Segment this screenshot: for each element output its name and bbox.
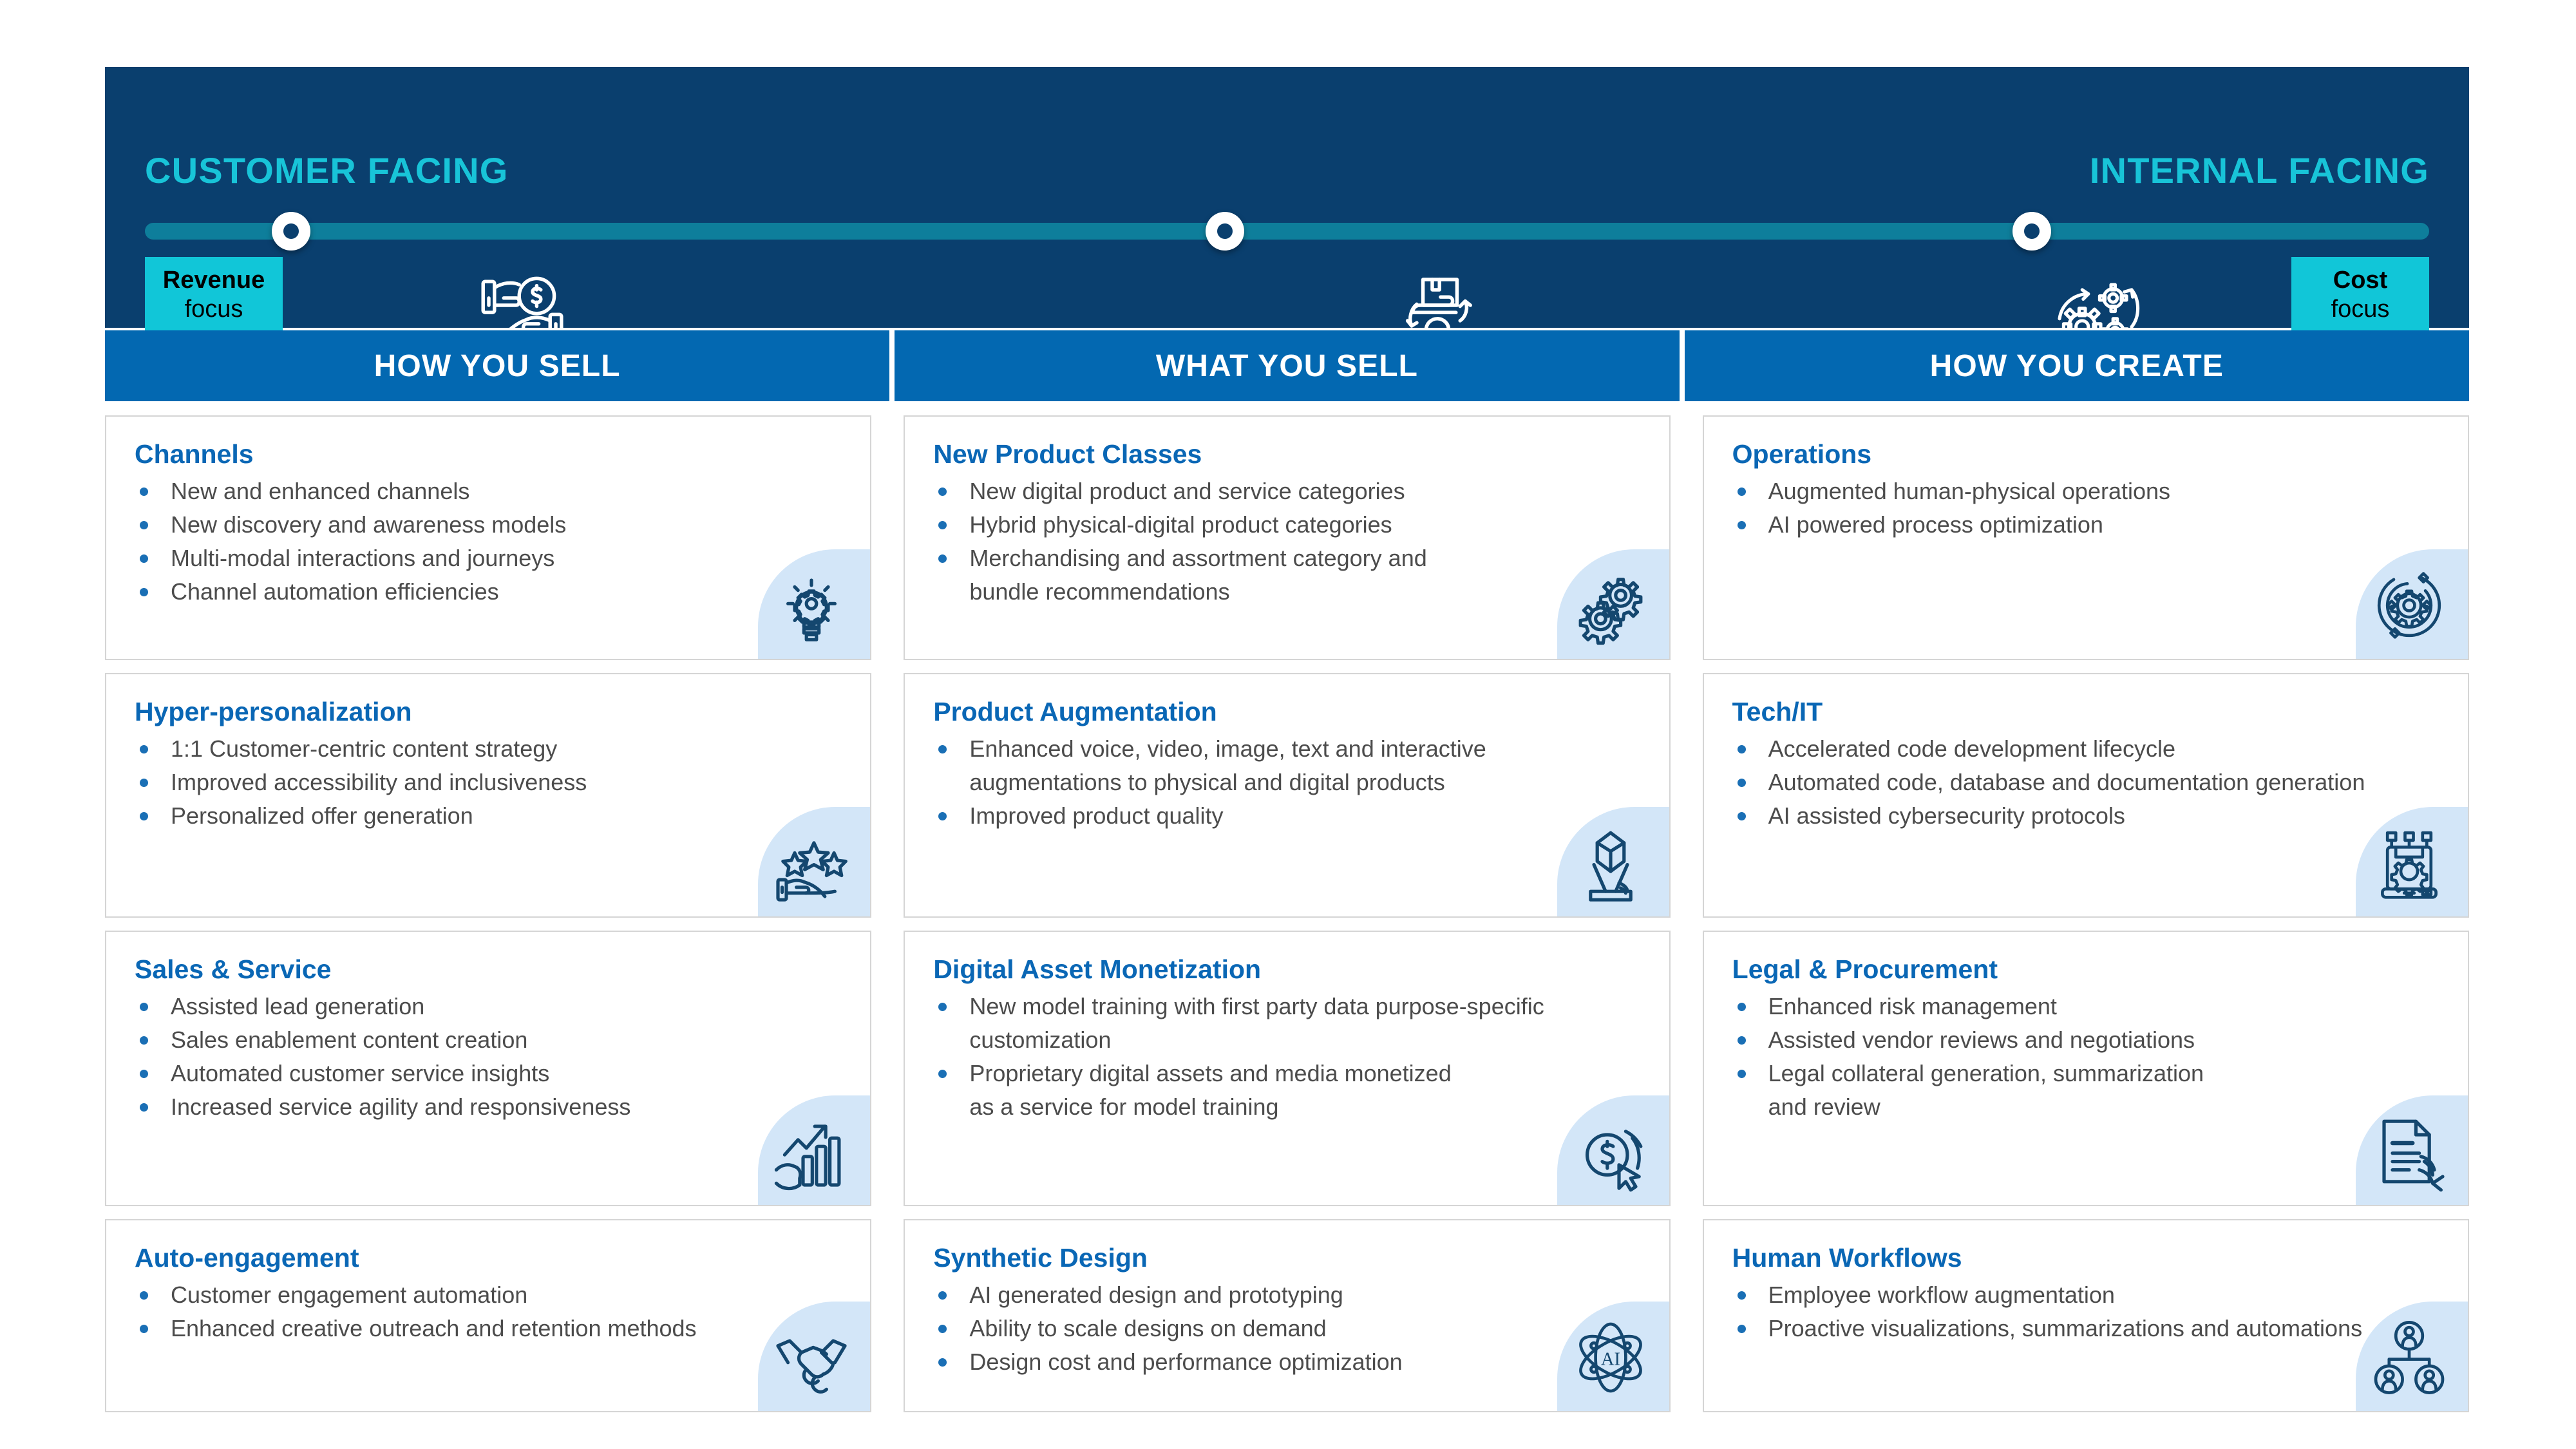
card-title: Sales & Service [135,955,842,984]
card-bullets: New and enhanced channels New discovery … [135,475,842,608]
card-bullets: Enhanced risk management Assisted vendor… [1732,990,2439,1123]
card-title: Tech/IT [1732,697,2439,726]
card-new-product-classes[interactable]: New Product Classes New digital product … [904,415,1670,660]
list-item: Augmented human-physical operations [1732,475,2428,507]
column-header-what-you-sell[interactable]: WHAT YOU SELL [895,330,1679,401]
cost-focus-light: focus [2331,295,2390,324]
card-bullets: Assisted lead generation Sales enablemen… [135,990,842,1123]
list-item: Assisted vendor reviews and negotiations [1732,1024,2428,1056]
card-channels[interactable]: Channels New and enhanced channels New d… [105,415,871,660]
revenue-focus-bold: Revenue [163,266,265,295]
card-bullets: Employee workflow augmentation Proactive… [1732,1279,2439,1345]
spectrum-node-2[interactable] [1206,212,1244,251]
card-title: Legal & Procurement [1732,955,2439,984]
card-bullets: Accelerated code development lifecycle A… [1732,733,2439,832]
list-item: Enhanced risk management [1732,990,2428,1023]
column-what-you-sell: New Product Classes New digital product … [904,415,1670,1412]
column-headers: HOW YOU SELL WHAT YOU SELL HOW YOU CREAT… [105,330,2469,401]
column-how-you-sell: Channels New and enhanced channels New d… [105,415,871,1412]
card-sales-and-service[interactable]: Sales & Service Assisted lead generation… [105,931,871,1206]
list-item: Enhanced voice, video, image, text and i… [933,733,1629,765]
list-item: Automated customer service insights [135,1057,830,1090]
list-item-continuation: customization [933,1024,1629,1056]
list-item-continuation: as a service for model training [933,1091,1629,1123]
card-hyper-personalization[interactable]: Hyper-personalization 1:1 Customer-centr… [105,673,871,918]
list-item: New and enhanced channels [135,475,830,507]
list-item: Assisted lead generation [135,990,830,1023]
server-gear-circuit-icon [2367,821,2451,905]
card-human-workflows[interactable]: Human Workflows Employee workflow augmen… [1703,1219,2469,1412]
card-bullets: New digital product and service categori… [933,475,1640,608]
list-item: New discovery and awareness models [135,509,830,541]
column-header-how-you-sell[interactable]: HOW YOU SELL [105,330,889,401]
card-title: Product Augmentation [933,697,1640,726]
list-item: Hybrid physical-digital product categori… [933,509,1629,541]
list-item: Ability to scale designs on demand [933,1312,1629,1345]
list-item: Employee workflow augmentation [1732,1279,2428,1311]
list-item: Legal collateral generation, summarizati… [1732,1057,2428,1090]
list-item-continuation: augmentations to physical and digital pr… [933,766,1629,799]
list-item: Enhanced creative outreach and retention… [135,1312,830,1345]
hands-cube-3d-icon [1569,821,1653,905]
list-item: Multi-modal interactions and journeys [135,542,830,574]
spectrum-track[interactable] [145,223,2429,240]
list-item: AI assisted cybersecurity protocols [1732,800,2428,832]
card-title: Hyper-personalization [135,697,842,726]
internal-facing-label: INTERNAL FACING [2090,149,2429,191]
card-bullets: Augmented human-physical operations AI p… [1732,475,2439,541]
list-item-continuation: bundle recommendations [933,576,1629,608]
revenue-focus-light: focus [185,295,243,324]
card-title: Operations [1732,440,2439,469]
list-item: Proactive visualizations, summarizations… [1732,1312,2428,1345]
spectrum-node-1[interactable] [272,212,310,251]
list-item: Improved product quality [933,800,1629,832]
card-bullets: Enhanced voice, video, image, text and i… [933,733,1640,832]
card-synthetic-design[interactable]: Synthetic Design AI generated design and… [904,1219,1670,1412]
spectrum-node-3[interactable] [2012,212,2051,251]
list-item: New digital product and service categori… [933,475,1629,507]
slide-canvas: CUSTOMER FACING INTERNAL FACING Revenue … [0,0,2576,1449]
list-item: Customer engagement automation [135,1279,830,1311]
card-bullets: AI generated design and prototyping Abil… [933,1279,1640,1378]
card-bullets: 1:1 Customer-centric content strategy Im… [135,733,842,832]
list-item: Personalized offer generation [135,800,830,832]
card-bullets: Customer engagement automation Enhanced … [135,1279,842,1345]
hand-stars-rating-icon [770,821,853,905]
card-title: Synthetic Design [933,1244,1640,1273]
card-auto-engagement[interactable]: Auto-engagement Customer engagement auto… [105,1219,871,1412]
list-item: Improved accessibility and inclusiveness [135,766,830,799]
card-product-augmentation[interactable]: Product Augmentation Enhanced voice, vid… [904,673,1670,918]
list-item: 1:1 Customer-centric content strategy [135,733,830,765]
list-item: Sales enablement content creation [135,1024,830,1056]
list-item-continuation: and review [1732,1091,2428,1123]
card-operations[interactable]: Operations Augmented human-physical oper… [1703,415,2469,660]
column-how-you-create: Operations Augmented human-physical oper… [1703,415,2469,1412]
list-item: AI powered process optimization [1732,509,2428,541]
card-title: Auto-engagement [135,1244,842,1273]
card-bullets: New model training with first party data… [933,990,1640,1123]
list-item: Accelerated code development lifecycle [1732,733,2428,765]
capability-grid: Channels New and enhanced channels New d… [105,415,2469,1412]
list-item: Design cost and performance optimization [933,1346,1629,1378]
list-item: AI generated design and prototyping [933,1279,1629,1311]
cost-focus-chip: Cost focus [2291,257,2429,333]
list-item: Automated code, database and documentati… [1732,766,2428,799]
customer-facing-label: CUSTOMER FACING [145,149,509,191]
card-title: New Product Classes [933,440,1640,469]
list-item: Merchandising and assortment category an… [933,542,1629,574]
list-item: New model training with first party data… [933,990,1629,1023]
card-title: Digital Asset Monetization [933,955,1640,984]
list-item: Channel automation efficiencies [135,576,830,608]
gear-orbit-optimization-icon [2367,563,2451,647]
list-item: Increased service agility and responsive… [135,1091,830,1123]
cost-focus-bold: Cost [2333,266,2387,295]
column-header-how-you-create[interactable]: HOW YOU CREATE [1685,330,2469,401]
list-item: Proprietary digital assets and media mon… [933,1057,1629,1090]
card-legal-and-procurement[interactable]: Legal & Procurement Enhanced risk manage… [1703,931,2469,1206]
card-title: Channels [135,440,842,469]
card-title: Human Workflows [1732,1244,2439,1273]
header-band: CUSTOMER FACING INTERNAL FACING Revenue … [105,67,2469,328]
card-tech-it[interactable]: Tech/IT Accelerated code development lif… [1703,673,2469,918]
card-digital-asset-monetization[interactable]: Digital Asset Monetization New model tra… [904,931,1670,1206]
revenue-focus-chip: Revenue focus [145,257,283,333]
